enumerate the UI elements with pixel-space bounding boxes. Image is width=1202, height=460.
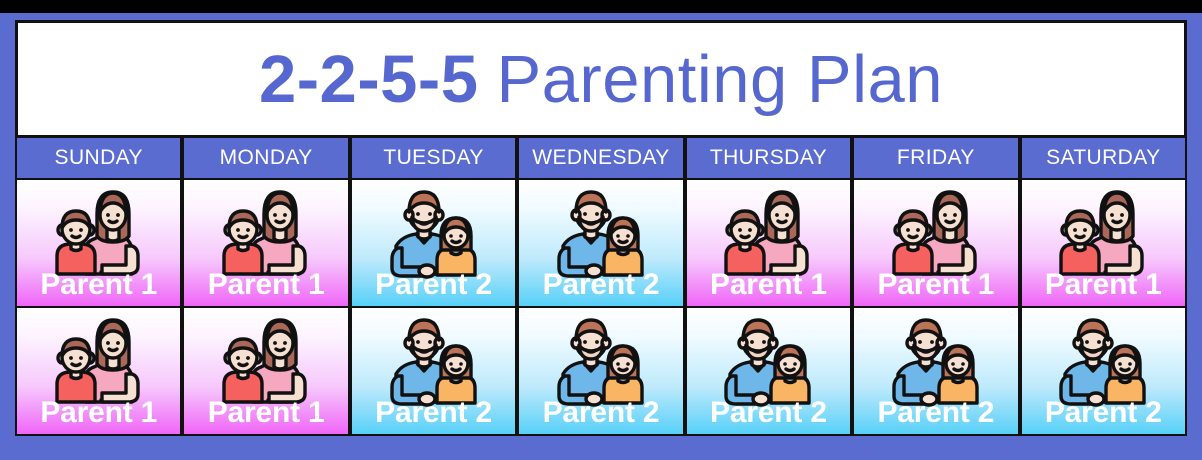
day-header-saturday: SATURDAY — [1020, 138, 1187, 180]
schedule-cell-label: Parent 2 — [543, 270, 660, 306]
day-header-tuesday: TUESDAY — [350, 138, 517, 180]
schedule-cell-week-1-friday[interactable]: Parent 1 — [852, 180, 1019, 308]
week-row-1: Parent 1 — [15, 180, 1187, 308]
schedule-cell-week-1-wednesday[interactable]: Parent 2 — [517, 180, 684, 308]
day-header-wednesday: WEDNESDAY — [517, 138, 684, 180]
schedule-cell-week-1-tuesday[interactable]: Parent 2 — [350, 180, 517, 308]
schedule-cell-week-2-sunday[interactable]: Parent 1 — [15, 308, 182, 436]
schedule-cell-week-2-saturday[interactable]: Parent 2 — [1020, 308, 1187, 436]
parenting-plan-calendar: 2-2-5-5Parenting Plan SUNDAYMONDAYTUESDA… — [0, 0, 1202, 460]
schedule-cell-week-1-monday[interactable]: Parent 1 — [182, 180, 349, 308]
schedule-cell-label: Parent 1 — [877, 270, 994, 306]
day-header-thursday: THURSDAY — [685, 138, 852, 180]
schedule-cell-week-2-monday[interactable]: Parent 1 — [182, 308, 349, 436]
calendar-title-box: 2-2-5-5Parenting Plan — [15, 20, 1187, 138]
schedule-cell-label: Parent 1 — [1045, 270, 1162, 306]
schedule-cell-label: Parent 1 — [40, 398, 157, 434]
schedule-cell-week-2-thursday[interactable]: Parent 2 — [685, 308, 852, 436]
schedule-cell-label: Parent 2 — [543, 398, 660, 434]
schedule-cell-week-1-thursday[interactable]: Parent 1 — [685, 180, 852, 308]
schedule-cell-week-2-tuesday[interactable]: Parent 2 — [350, 308, 517, 436]
day-header-sunday: SUNDAY — [15, 138, 182, 180]
schedule-cell-label: Parent 1 — [710, 270, 827, 306]
day-header-friday: FRIDAY — [852, 138, 1019, 180]
schedule-cell-label: Parent 1 — [208, 398, 325, 434]
schedule-cell-label: Parent 1 — [40, 270, 157, 306]
schedule-cell-label: Parent 1 — [208, 270, 325, 306]
schedule-cell-label: Parent 2 — [710, 398, 827, 434]
schedule-cell-label: Parent 2 — [375, 398, 492, 434]
day-header-monday: MONDAY — [182, 138, 349, 180]
schedule-cell-week-1-saturday[interactable]: Parent 1 — [1020, 180, 1187, 308]
schedule-cell-week-1-sunday[interactable]: Parent 1 — [15, 180, 182, 308]
title-plan-code: 2-2-5-5 — [259, 46, 478, 113]
calendar-table: 2-2-5-5Parenting Plan SUNDAYMONDAYTUESDA… — [15, 20, 1187, 456]
schedule-cell-label: Parent 2 — [877, 398, 994, 434]
schedule-cell-week-2-friday[interactable]: Parent 2 — [852, 308, 1019, 436]
day-header-row: SUNDAYMONDAYTUESDAYWEDNESDAYTHURSDAYFRID… — [15, 138, 1187, 180]
week-row-2: Parent 1 — [15, 308, 1187, 436]
schedule-cell-week-2-wednesday[interactable]: Parent 2 — [517, 308, 684, 436]
title-plan-name: Parenting Plan — [496, 46, 943, 113]
schedule-cell-label: Parent 2 — [1045, 398, 1162, 434]
calendar-blue-frame: 2-2-5-5Parenting Plan SUNDAYMONDAYTUESDA… — [0, 13, 1202, 460]
schedule-cell-label: Parent 2 — [375, 270, 492, 306]
page-title: 2-2-5-5Parenting Plan — [259, 46, 943, 113]
